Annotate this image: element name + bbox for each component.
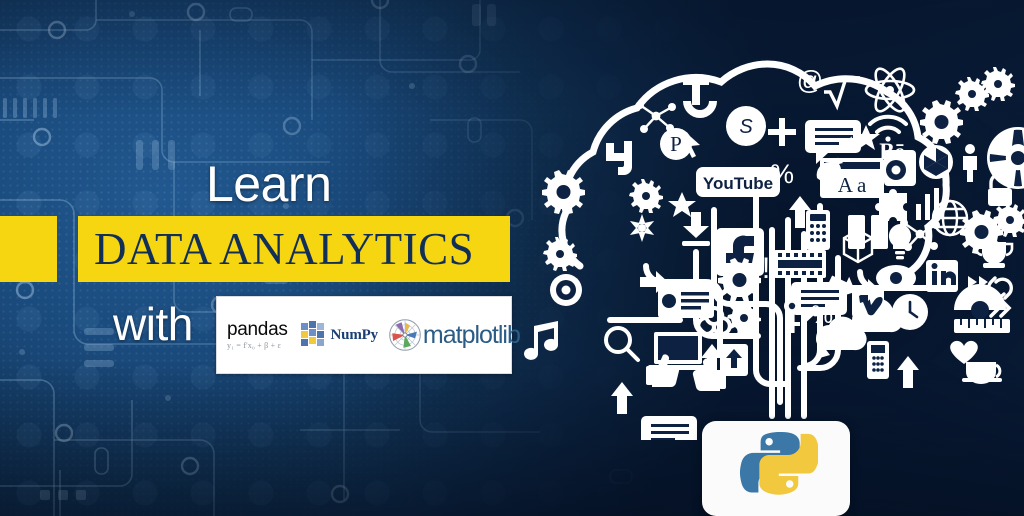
youtube-icon: YouTube — [696, 167, 780, 197]
svg-text:@: @ — [797, 65, 823, 95]
svg-text:YouTube: YouTube — [703, 174, 773, 193]
twitter-icon — [606, 141, 632, 175]
python-logo — [734, 427, 818, 511]
numpy-wordmark: NumPy — [331, 327, 378, 344]
linkedin-icon — [926, 260, 958, 292]
headline-with: with — [113, 301, 193, 347]
python-logo-card — [702, 421, 850, 516]
pandas-wordmark: pandas — [227, 320, 288, 339]
pandas-logo: pandas y₁ = f'x₀ + β + ε — [227, 320, 288, 350]
matplotlib-logo: matplotlib — [388, 318, 520, 352]
svg-text:!: ! — [762, 252, 770, 285]
matplotlib-wordmark: matplotlib — [423, 321, 520, 350]
brain-cloud-illustration: A a — [500, 20, 1024, 440]
numpy-logo: NumPy — [298, 319, 378, 351]
accent-tab-block — [0, 216, 57, 282]
matplotlib-polar-icon — [388, 318, 422, 352]
headline-learn: Learn — [206, 159, 331, 209]
pandas-formula-text: y₁ = f'x₀ + β + ε — [227, 342, 281, 350]
skype-icon: S — [726, 106, 766, 146]
svg-text:«: « — [846, 127, 858, 153]
numpy-cube-icon — [298, 319, 328, 351]
svg-text:%: % — [770, 159, 794, 189]
banner-image: A a — [0, 0, 1024, 516]
svg-text:S: S — [739, 116, 753, 138]
headline-band: DATA ANALYTICS — [78, 216, 510, 282]
library-logo-strip: pandas y₁ = f'x₀ + β + ε NumPy — [216, 296, 512, 374]
headline-data-analytics: DATA ANALYTICS — [78, 223, 474, 275]
svg-text:P: P — [670, 132, 682, 156]
